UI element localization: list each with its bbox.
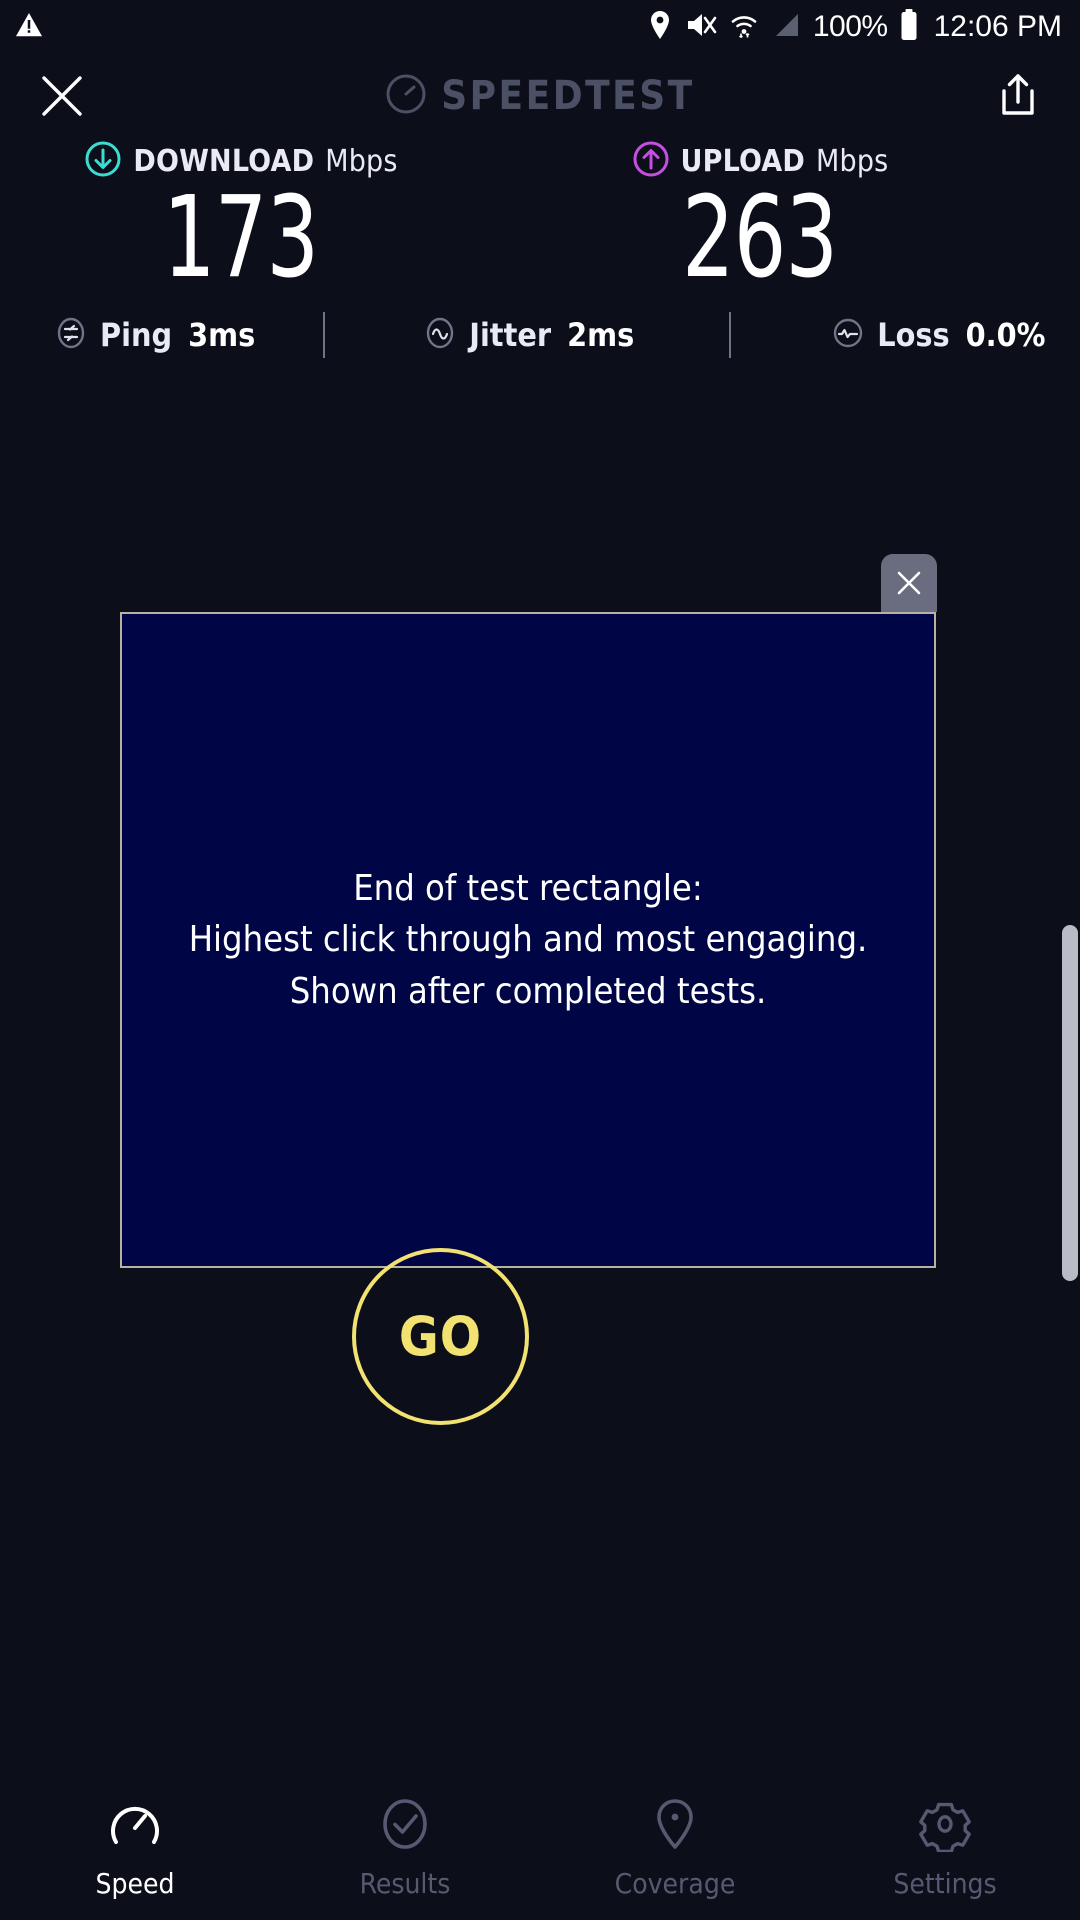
- speedometer-icon: [107, 1795, 163, 1853]
- nav-label-coverage: Coverage: [615, 1867, 736, 1900]
- jitter-label: Jitter: [469, 316, 551, 354]
- bottom-navigation-bar: Speed Results Coverage: [0, 1774, 1080, 1920]
- download-arrow-icon: [84, 140, 122, 183]
- share-icon: [997, 72, 1039, 120]
- jitter-stat: Jitter 2ms: [423, 316, 634, 355]
- cellular-signal-icon: [771, 10, 801, 45]
- status-bar-right: 100% 12:06 PM: [647, 9, 1062, 46]
- nav-item-speed[interactable]: Speed: [0, 1774, 270, 1920]
- loss-label: Loss: [877, 316, 949, 354]
- map-pin-icon: [647, 1795, 703, 1853]
- ad-close-button[interactable]: [881, 554, 937, 612]
- upload-arrow-icon: [632, 140, 670, 183]
- status-bar-left: [14, 10, 44, 45]
- nav-label-results: Results: [360, 1867, 451, 1900]
- ping-value: 3ms: [188, 316, 255, 354]
- advertisement-container: End of test rectangle: Highest click thr…: [120, 612, 936, 1268]
- status-bar: 100% 12:06 PM: [0, 0, 1080, 54]
- substat-divider: [323, 312, 325, 358]
- loss-icon: [831, 316, 865, 355]
- loss-value: 0.0%: [966, 316, 1046, 354]
- upload-metric: UPLOAD Mbps 263: [540, 140, 1080, 290]
- jitter-icon: [423, 316, 457, 355]
- upload-value: 263: [682, 187, 837, 290]
- close-test-button[interactable]: [34, 68, 90, 124]
- nav-label-speed: Speed: [96, 1867, 175, 1900]
- location-pin-icon: [647, 10, 673, 45]
- warning-triangle-icon: [14, 10, 44, 45]
- app-header: SPEEDTEST: [0, 56, 1080, 136]
- jitter-value: 2ms: [567, 316, 634, 354]
- close-icon: [39, 73, 85, 119]
- download-metric: DOWNLOAD Mbps 173: [0, 140, 540, 290]
- advertisement-text: End of test rectangle: Highest click thr…: [189, 863, 868, 1016]
- download-value: 173: [163, 187, 318, 290]
- nav-item-results[interactable]: Results: [270, 1774, 540, 1920]
- go-button[interactable]: GO: [352, 1248, 529, 1425]
- download-unit: Mbps: [325, 144, 397, 179]
- status-bar-clock: 12:06 PM: [934, 12, 1062, 42]
- speedometer-icon: [385, 73, 427, 120]
- nav-item-coverage[interactable]: Coverage: [540, 1774, 810, 1920]
- loss-stat: Loss 0.0%: [831, 316, 1045, 355]
- connection-substats: Ping 3ms Jitter 2ms Loss 0.0%: [0, 300, 1080, 370]
- volume-mute-icon: [685, 10, 717, 45]
- brand-lockup: SPEEDTEST: [0, 56, 1080, 136]
- nav-label-settings: Settings: [893, 1867, 996, 1900]
- advertisement-banner[interactable]: End of test rectangle: Highest click thr…: [120, 612, 936, 1268]
- substat-divider: [729, 312, 731, 358]
- brand-title: SPEEDTEST: [441, 73, 694, 119]
- nav-item-settings[interactable]: Settings: [810, 1774, 1080, 1920]
- check-circle-icon: [377, 1795, 433, 1853]
- ping-label: Ping: [100, 316, 172, 354]
- speedtest-app-screen: 100% 12:06 PM SPEEDTEST: [0, 0, 1080, 1920]
- vertical-scrollbar[interactable]: [1062, 925, 1078, 1281]
- battery-full-icon: [900, 9, 918, 46]
- wifi-icon: [729, 10, 759, 45]
- battery-percent-label: 100%: [813, 12, 888, 42]
- ping-stat: Ping 3ms: [54, 316, 255, 355]
- share-result-button[interactable]: [990, 68, 1046, 124]
- gear-icon: [917, 1795, 973, 1853]
- speed-results: DOWNLOAD Mbps 173 UPLOAD Mbps 263: [0, 140, 1080, 290]
- close-icon: [894, 568, 924, 598]
- go-button-label: GO: [399, 1305, 482, 1368]
- ping-icon: [54, 316, 88, 355]
